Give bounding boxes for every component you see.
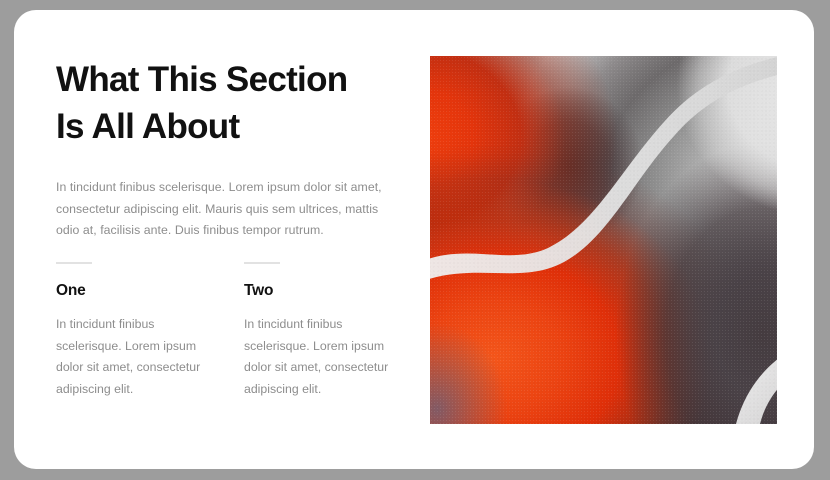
feature-column-body: In tincidunt finibus scelerisque. Lorem … <box>244 300 402 400</box>
artwork-grain-texture <box>430 56 777 424</box>
feature-columns: One In tincidunt finibus scelerisque. Lo… <box>56 262 416 400</box>
feature-column-body: In tincidunt finibus scelerisque. Lorem … <box>56 300 214 400</box>
feature-column-title: One <box>56 282 214 300</box>
page-title: What This Section Is All About <box>56 56 406 150</box>
feature-column-two: Two In tincidunt finibus scelerisque. Lo… <box>244 262 402 400</box>
divider-rule <box>56 262 92 264</box>
text-content-column: What This Section Is All About In tincid… <box>56 56 406 242</box>
slide-card: What This Section Is All About In tincid… <box>14 10 814 469</box>
feature-column-one: One In tincidunt finibus scelerisque. Lo… <box>56 262 214 400</box>
feature-column-title: Two <box>244 282 402 300</box>
divider-rule <box>244 262 280 264</box>
abstract-gradient-image <box>430 56 777 424</box>
intro-paragraph: In tincidunt finibus scelerisque. Lorem … <box>56 150 394 242</box>
